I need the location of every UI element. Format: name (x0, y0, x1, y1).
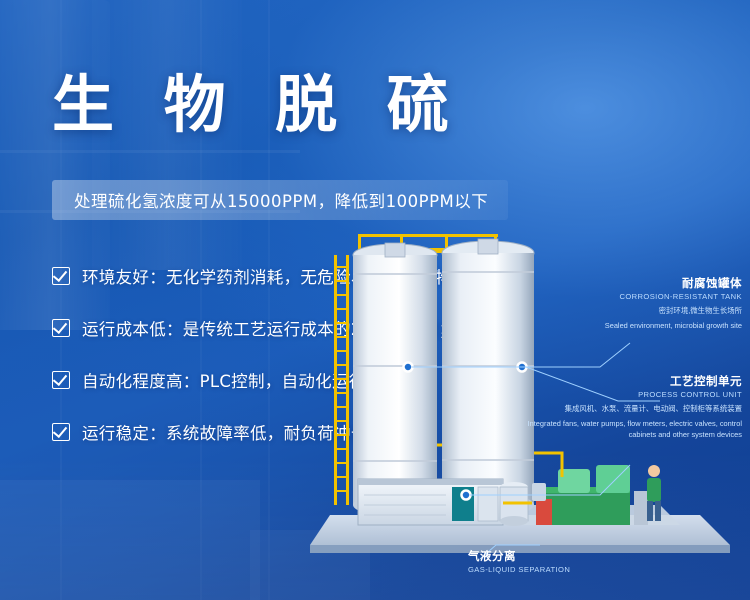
check-icon (52, 371, 70, 389)
callout-desc-cn: 密封环境,微生物生长场所 (532, 305, 742, 316)
subtitle-text: 处理硫化氢浓度可从15000PPM，降低到100PPM以下 (74, 188, 488, 212)
hotspot-control-unit[interactable] (462, 491, 471, 500)
check-icon (52, 319, 70, 337)
callout-title-en: GAS-LIQUID SEPARATION (468, 565, 668, 574)
callout-gas-liquid-separation: 气液分离 GAS-LIQUID SEPARATION (468, 548, 668, 574)
callout-title-cn: 耐腐蚀罐体 (532, 275, 742, 291)
callout-title-cn: 气液分离 (468, 548, 668, 564)
callout-process-control-unit: 工艺控制单元 PROCESS CONTROL UNIT 集成风机、水泵、流量计、… (522, 373, 742, 440)
callout-desc-en: Sealed environment, microbial growth sit… (532, 320, 742, 331)
check-icon (52, 423, 70, 441)
poster-root: 生 物 脱 硫 处理硫化氢浓度可从15000PPM，降低到100PPM以下 环境… (0, 0, 750, 600)
callout-desc-en: Integrated fans, water pumps, flow meter… (522, 418, 742, 440)
callout-desc-cn: 集成风机、水泵、流量计、电动阀、控制柜等系统装置 (522, 403, 742, 414)
hotspot-tank[interactable] (404, 363, 413, 372)
bg-pipe (0, 150, 300, 153)
check-icon (52, 267, 70, 285)
page-title: 生 物 脱 硫 (52, 74, 463, 136)
tank-right (442, 239, 534, 517)
callout-corrosion-resistant-tank: 耐腐蚀罐体 CORROSION-RESISTANT TANK 密封环境,微生物生… (532, 275, 742, 331)
callout-title-en: CORROSION-RESISTANT TANK (532, 292, 742, 301)
ladder (334, 255, 349, 505)
callout-title-cn: 工艺控制单元 (522, 373, 742, 389)
callout-title-en: PROCESS CONTROL UNIT (522, 390, 742, 399)
subtitle-banner: 处理硫化氢浓度可从15000PPM，降低到100PPM以下 (52, 180, 508, 220)
tank-left (353, 243, 437, 516)
control-cabinet (358, 479, 503, 525)
